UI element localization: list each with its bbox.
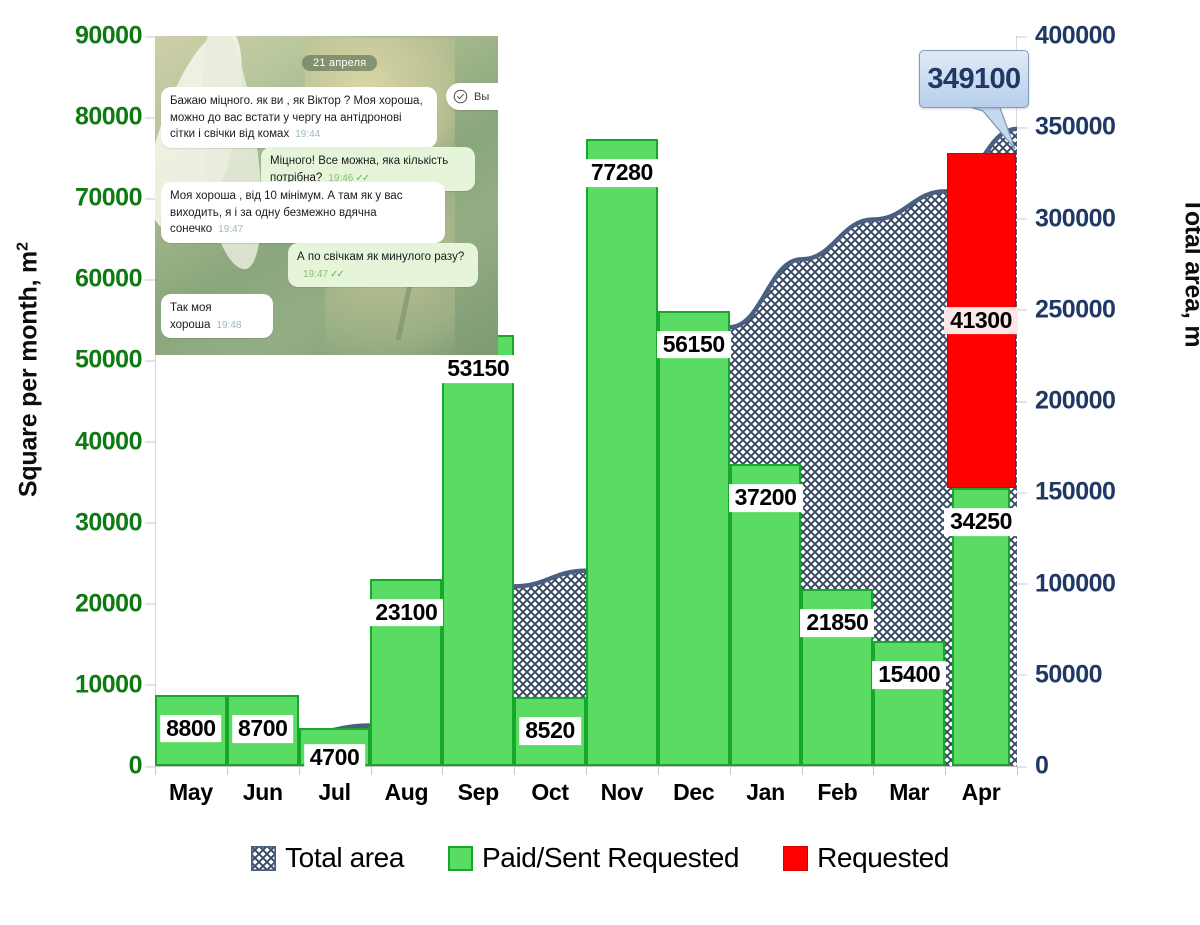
y-axis-left-tick: 50000 — [2, 346, 142, 375]
x-axis-label: May — [155, 779, 227, 811]
chat-screenshot-overlay: 21 апреля Вы Бажаю міцного. як ви , як В… — [155, 36, 498, 355]
y-axis-left-tick-label: 80000 — [75, 103, 142, 131]
y-axis-left-tick-label: 40000 — [75, 427, 142, 455]
y-axis-right-tick-label: 200000 — [1035, 387, 1115, 415]
y-axis-right-tick: 50000 — [1035, 660, 1200, 689]
bar-data-label: 77280 — [585, 159, 659, 187]
legend-item[interactable]: Total area — [251, 842, 404, 874]
bar-data-label: 53150 — [441, 355, 515, 383]
x-axis-tick-mark — [802, 766, 803, 775]
x-axis-tick-mark — [442, 766, 443, 775]
legend-item-label: Total area — [285, 842, 404, 874]
y-axis-left-tick: 80000 — [2, 103, 142, 132]
bar-data-label: 4700 — [304, 744, 366, 772]
y-axis-left-tick-label: 70000 — [75, 184, 142, 212]
y-axis-left-tick-label: 90000 — [75, 22, 142, 50]
x-axis-tick-mark — [155, 766, 156, 775]
tick-mark — [1016, 675, 1027, 676]
chat-message-text: Так моя хороша — [170, 302, 212, 331]
bar-data-label: 15400 — [872, 661, 946, 689]
x-axis-tick-mark — [586, 766, 587, 775]
y-axis-left-tick-label: 50000 — [75, 346, 142, 374]
legend-swatch-total-area-icon — [251, 846, 276, 871]
bar-data-label: 8520 — [519, 717, 581, 745]
x-axis-label: Sep — [442, 779, 514, 811]
y-axis-right-tick-label: 0 — [1035, 752, 1048, 780]
chat-message-time: 19:47 — [218, 224, 243, 235]
chat-message: Бажаю міцного. як ви , як Віктор ? Моя х… — [161, 87, 437, 148]
chat-message-time: 19:48 — [216, 320, 241, 331]
x-axis-tick-mark — [1017, 766, 1018, 775]
x-axis-tick-mark — [514, 766, 515, 775]
x-axis-label: Mar — [873, 779, 945, 811]
chat-read-ticks-icon: ✓✓ — [330, 269, 343, 280]
bar-data-label: 8800 — [160, 715, 222, 743]
y-axis-left-tick: 70000 — [2, 184, 142, 213]
chat-status-pill-label: Вы — [474, 91, 489, 103]
x-axis-tick-mark — [730, 766, 731, 775]
x-axis-tick-mark — [299, 766, 300, 775]
y-axis-right-tick: 100000 — [1035, 569, 1200, 598]
legend-swatch-red-icon — [783, 846, 808, 871]
x-axis-label: Jan — [730, 779, 802, 811]
x-axis-tick-mark — [371, 766, 372, 775]
legend-item-label: Requested — [817, 842, 949, 874]
legend-swatch-green-icon — [448, 846, 473, 871]
chart-legend: Total areaPaid/Sent RequestedRequested — [0, 835, 1200, 881]
tick-mark — [1016, 219, 1027, 220]
y-axis-left-tick-label: 60000 — [75, 265, 142, 293]
y-axis-left-tick-label: 10000 — [75, 670, 142, 698]
x-axis-label: Jul — [299, 779, 371, 811]
y-axis-left-tick: 20000 — [2, 589, 142, 618]
y-axis-left-tick: 90000 — [2, 22, 142, 51]
chat-message: Моя хороша , від 10 мінімум. А там як у … — [161, 182, 445, 243]
chart-root: Square per month, m2 Total area, m 01000… — [0, 0, 1200, 925]
y-axis-left-tick-label: 0 — [129, 752, 142, 780]
chat-message-time: 19:44 — [295, 129, 320, 140]
y-axis-right-tick: 250000 — [1035, 295, 1200, 324]
legend-item-label: Paid/Sent Requested — [482, 842, 739, 874]
bar-data-label: 21850 — [800, 609, 874, 637]
x-axis-tickmarks — [155, 766, 1017, 775]
callout-value: 349100 — [927, 63, 1020, 96]
x-axis-label: Nov — [586, 779, 658, 811]
y-axis-right-tick-label: 100000 — [1035, 569, 1115, 597]
legend-item[interactable]: Paid/Sent Requested — [448, 842, 739, 874]
chat-date-chip: 21 апреля — [302, 55, 377, 71]
y-axis-left-tick: 40000 — [2, 427, 142, 456]
y-axis-right-tick: 200000 — [1035, 387, 1200, 416]
y-axis-right-tick-label: 150000 — [1035, 478, 1115, 506]
callout-tail — [963, 105, 1033, 151]
y-axis-right-tick-label: 350000 — [1035, 113, 1115, 141]
y-axis-left-tick-label: 30000 — [75, 508, 142, 536]
chat-message: А по свічкам як минулого разу?19:47✓✓ — [288, 243, 478, 287]
y-axis-right-title: Total area, m — [1179, 123, 1200, 423]
total-area-callout: 349100 — [919, 50, 1029, 108]
y-axis-right-tick-label: 50000 — [1035, 660, 1102, 688]
chat-message-text: А по свічкам як минулого разу? — [297, 251, 464, 263]
y-axis-right-tick: 350000 — [1035, 113, 1200, 142]
bar-data-label: 23100 — [369, 599, 443, 627]
requested-data-label: 41300 — [944, 307, 1018, 335]
y-axis-right-tick: 150000 — [1035, 478, 1200, 507]
chat-message-text: Моя хороша , від 10 мінімум. А там як у … — [170, 190, 402, 235]
bar-data-label: 8700 — [232, 716, 294, 744]
x-axis-label: Dec — [658, 779, 730, 811]
x-axis-label: Jun — [227, 779, 299, 811]
tick-mark — [1016, 36, 1027, 37]
y-axis-right-tick-label: 300000 — [1035, 204, 1115, 232]
y-axis-left-tick: 10000 — [2, 670, 142, 699]
y-axis-right-tick: 0 — [1035, 752, 1200, 781]
superscript-two: 2 — [14, 242, 31, 251]
tick-mark — [1016, 492, 1027, 493]
x-axis-labels: MayJunJulAugSepOctNovDecJanFebMarApr — [155, 779, 1017, 811]
y-axis-left-tick: 0 — [2, 752, 142, 781]
y-axis-left-tick-label: 20000 — [75, 589, 142, 617]
bar-data-label: 34250 — [944, 508, 1018, 536]
chat-status-pill[interactable]: Вы — [446, 83, 498, 110]
x-axis-tick-mark — [945, 766, 946, 775]
y-axis-right-tick: 300000 — [1035, 204, 1200, 233]
y-axis-right-tick-label: 250000 — [1035, 295, 1115, 323]
bar-data-label: 56150 — [657, 331, 731, 359]
y-axis-left-tick: 60000 — [2, 265, 142, 294]
x-axis-label: Apr — [945, 779, 1017, 811]
x-axis-label: Oct — [514, 779, 586, 811]
x-axis-label: Aug — [370, 779, 442, 811]
x-axis-tick-mark — [873, 766, 874, 775]
y-axis-left-tick: 30000 — [2, 508, 142, 537]
tick-mark — [1016, 401, 1027, 402]
chat-message-time: 19:47 — [303, 269, 328, 280]
y-axis-right-tick-label: 400000 — [1035, 22, 1115, 50]
x-axis-label: Feb — [801, 779, 873, 811]
chat-message: Так моя хороша19:48 — [161, 294, 273, 338]
y-axis-right-tick: 400000 — [1035, 22, 1200, 51]
bar-data-label: 37200 — [729, 484, 803, 512]
x-axis-tick-mark — [227, 766, 228, 775]
check-circle-icon — [453, 89, 468, 104]
x-axis-tick-mark — [658, 766, 659, 775]
legend-item[interactable]: Requested — [783, 842, 949, 874]
tick-mark — [1016, 584, 1027, 585]
